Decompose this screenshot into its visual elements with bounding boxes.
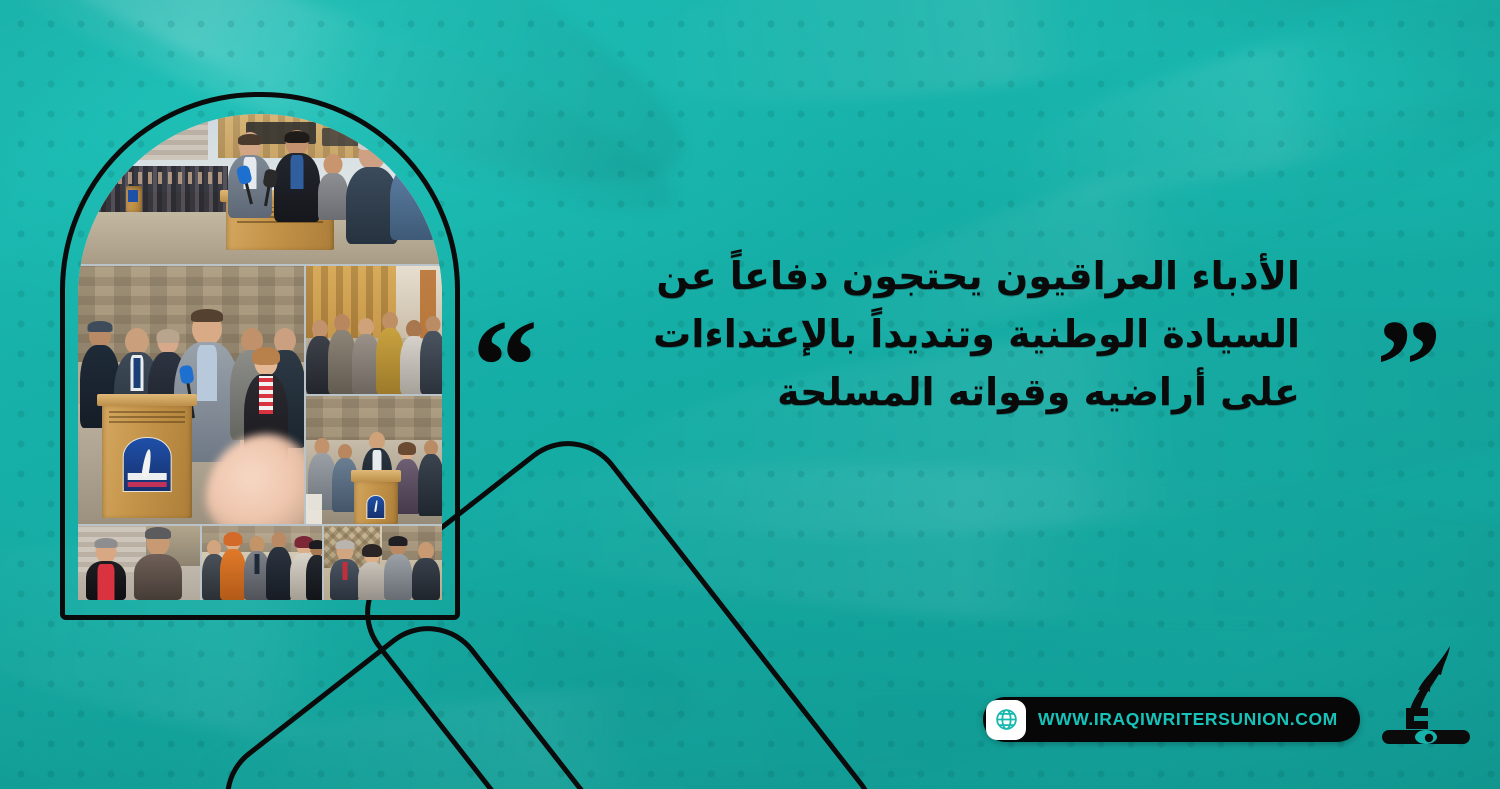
website-url-badge[interactable]: WWW.IRAQIWRITERSUNION.COM [983, 697, 1360, 742]
quote-close-mark: ” [1376, 300, 1438, 432]
quill-pen-icon [1372, 640, 1480, 748]
headline-line-3: على أراضيه وقواته المسلحة [540, 364, 1300, 422]
website-url-text: WWW.IRAQIWRITERSUNION.COM [1038, 709, 1338, 730]
collage-cell-bottom-mid [202, 526, 322, 600]
banner-canvas: “ ” الأدباء العراقيون يحتجون دفاعاً عن ا… [0, 0, 1500, 789]
headline: الأدباء العراقيون يحتجون دفاعاً عن السيا… [540, 248, 1300, 421]
headline-line-1: الأدباء العراقيون يحتجون دفاعاً عن [540, 248, 1300, 306]
collage-cell-right-lower [306, 396, 442, 524]
quote-open-mark: “ [472, 300, 534, 432]
photo-collage-frame [60, 92, 460, 620]
globe-icon [986, 700, 1026, 740]
photo-collage [78, 114, 442, 600]
collage-cell-top-wide [78, 114, 442, 264]
collage-cell-right-upper [306, 266, 442, 394]
collage-cell-main-left [78, 266, 304, 524]
headline-line-2: السيادة الوطنية وتنديداً بالإعتداءات [540, 306, 1300, 364]
collage-cell-bottom-left [78, 526, 200, 600]
collage-cell-bottom-right [324, 526, 442, 600]
